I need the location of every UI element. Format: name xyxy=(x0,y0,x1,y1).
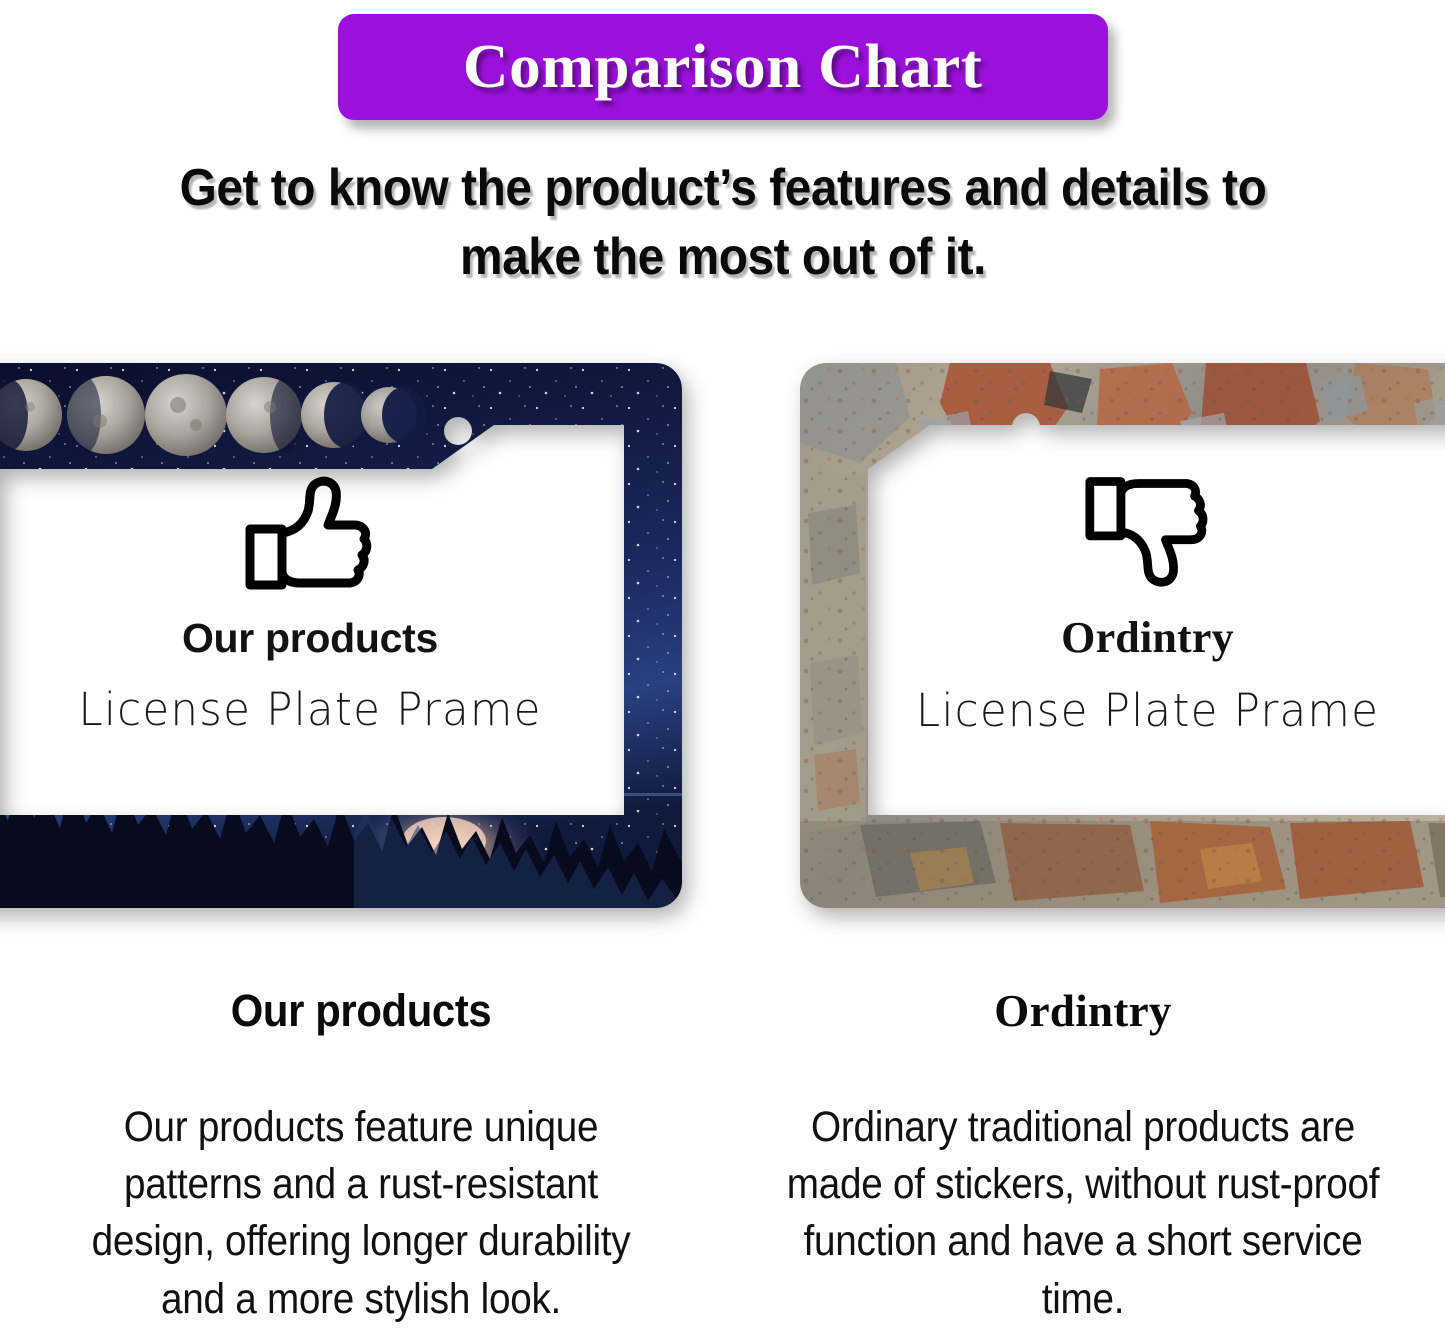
our-product-column-heading: Our products xyxy=(51,985,670,1037)
our-product-plate-frame xyxy=(0,363,682,908)
ordinary-product-plate-frame xyxy=(800,363,1445,908)
ordinary-plate-graphic xyxy=(800,363,1445,908)
ordinary-product-column: Ordintry Ordinary traditional products a… xyxy=(722,985,1444,1328)
ordinary-product-column-body: Ordinary traditional products are made o… xyxy=(783,1099,1382,1328)
comparison-columns: Our products Our products feature unique… xyxy=(0,985,1445,1328)
plates-stage: Our products License Plate Prame Ordintr… xyxy=(0,360,1445,920)
our-product-column: Our products Our products feature unique… xyxy=(0,985,722,1328)
title-banner: Comparison Chart xyxy=(338,14,1108,120)
our-product-column-body: Our products feature unique patterns and… xyxy=(61,1099,660,1328)
header: Comparison Chart Get to know the product… xyxy=(0,0,1445,291)
our-plate-graphic xyxy=(0,363,682,908)
ordinary-product-column-heading: Ordintry xyxy=(750,985,1416,1037)
page-title: Comparison Chart xyxy=(463,32,982,103)
subtitle-text: Get to know the product’s features and d… xyxy=(171,154,1275,291)
